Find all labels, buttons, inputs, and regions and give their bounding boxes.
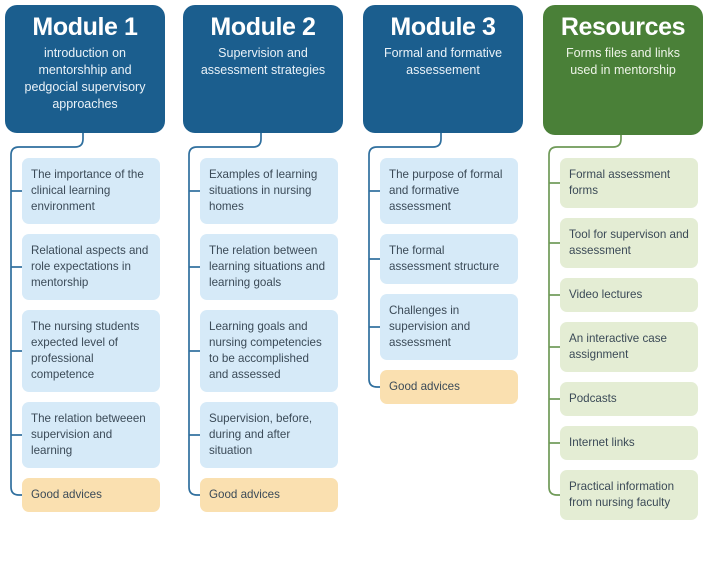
item-module-1-3[interactable]: The nursing students expected level of p…	[22, 310, 160, 392]
header-title-module-2: Module 2	[193, 14, 333, 40]
item-module-2-1[interactable]: Examples of learning situations in nursi…	[200, 158, 338, 224]
item-module-1-5[interactable]: Good advices	[22, 478, 160, 512]
item-module-3-3[interactable]: Challenges in supervision and assessment	[380, 294, 518, 360]
item-module-3-1[interactable]: The purpose of formal and formative asse…	[380, 158, 518, 224]
header-card-module-1[interactable]: Module 1introduction on mentorshhip and …	[5, 5, 165, 133]
header-card-module-2[interactable]: Module 2Supervision and assessment strat…	[183, 5, 343, 133]
header-title-module-1: Module 1	[15, 14, 155, 40]
item-label: Practical information from nursing facul…	[569, 479, 689, 511]
item-module-1-1[interactable]: The importance of the clinical learning …	[22, 158, 160, 224]
header-subtitle-module-2: Supervision and assessment strategies	[193, 45, 333, 79]
connector-rail	[189, 155, 200, 495]
item-label: Internet links	[569, 435, 689, 451]
header-subtitle-resources: Forms files and links used in mentorship	[553, 45, 693, 79]
column-module-2: Module 2Supervision and assessment strat…	[178, 0, 343, 583]
header-title-module-3: Module 3	[373, 14, 513, 40]
item-label: Good advices	[31, 487, 151, 503]
item-resources-1[interactable]: Formal assessment forms	[560, 158, 698, 208]
connector-stem	[369, 133, 441, 155]
item-module-2-2[interactable]: The relation between learning situations…	[200, 234, 338, 300]
header-title-resources: Resources	[553, 14, 693, 40]
connector-rail	[369, 155, 380, 387]
module-overview-diagram: Module 1introduction on mentorshhip and …	[0, 0, 708, 583]
item-resources-6[interactable]: Internet links	[560, 426, 698, 460]
item-module-2-4[interactable]: Supervision, before, during and after si…	[200, 402, 338, 468]
item-module-3-2[interactable]: The formal assessment structure	[380, 234, 518, 284]
item-label: The relation between learning situations…	[209, 243, 329, 291]
item-resources-5[interactable]: Podcasts	[560, 382, 698, 416]
item-label: Challenges in supervision and assessment	[389, 303, 509, 351]
item-label: Examples of learning situations in nursi…	[209, 167, 329, 215]
item-label: The nursing students expected level of p…	[31, 319, 151, 383]
connector-stem	[189, 133, 261, 155]
item-label: Relational aspects and role expectations…	[31, 243, 151, 291]
item-label: Supervision, before, during and after si…	[209, 411, 329, 459]
connector-stem	[549, 135, 621, 155]
item-label: Video lectures	[569, 287, 689, 303]
item-resources-2[interactable]: Tool for supervison and assessment	[560, 218, 698, 268]
item-label: Learning goals and nursing competencies …	[209, 319, 329, 383]
connector-rail	[11, 155, 22, 495]
column-resources: ResourcesForms files and links used in m…	[538, 0, 703, 583]
header-card-module-3[interactable]: Module 3Formal and formative assessement	[363, 5, 523, 133]
item-label: Formal assessment forms	[569, 167, 689, 199]
header-subtitle-module-1: introduction on mentorshhip and pedgocia…	[15, 45, 155, 113]
item-resources-7[interactable]: Practical information from nursing facul…	[560, 470, 698, 520]
connector-rail	[549, 155, 560, 495]
header-card-resources[interactable]: ResourcesForms files and links used in m…	[543, 5, 703, 135]
column-module-3: Module 3Formal and formative assessement…	[358, 0, 523, 583]
item-resources-3[interactable]: Video lectures	[560, 278, 698, 312]
item-label: The formal assessment structure	[389, 243, 509, 275]
item-label: The purpose of formal and formative asse…	[389, 167, 509, 215]
item-label: Tool for supervison and assessment	[569, 227, 689, 259]
item-module-2-5[interactable]: Good advices	[200, 478, 338, 512]
item-label: The relation betweeen supervision and le…	[31, 411, 151, 459]
item-label: Good advices	[389, 379, 509, 395]
item-module-3-4[interactable]: Good advices	[380, 370, 518, 404]
header-subtitle-module-3: Formal and formative assessement	[373, 45, 513, 79]
item-module-1-2[interactable]: Relational aspects and role expectations…	[22, 234, 160, 300]
item-module-1-4[interactable]: The relation betweeen supervision and le…	[22, 402, 160, 468]
column-module-1: Module 1introduction on mentorshhip and …	[0, 0, 165, 583]
item-module-2-3[interactable]: Learning goals and nursing competencies …	[200, 310, 338, 392]
item-label: The importance of the clinical learning …	[31, 167, 151, 215]
item-label: Podcasts	[569, 391, 689, 407]
connector-stem	[11, 133, 83, 155]
item-resources-4[interactable]: An interactive case assignment	[560, 322, 698, 372]
item-label: An interactive case assignment	[569, 331, 689, 363]
item-label: Good advices	[209, 487, 329, 503]
